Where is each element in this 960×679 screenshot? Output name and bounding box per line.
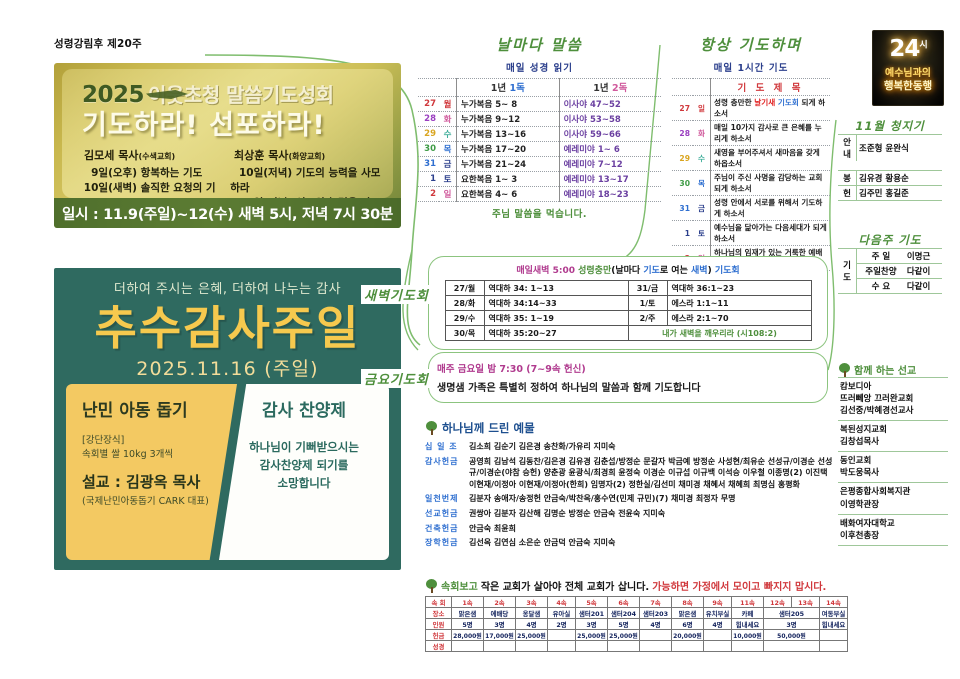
prayer-topic: 성령 충만한 날기새 기도회 되게 하소서 xyxy=(711,96,831,121)
poster1-speakers: 김모세 목사(수색교회) 최상훈 목사(화양교회) xyxy=(84,147,381,163)
next-week-prayer-section: 다음주 기도 기 도 주 일 이명근 주일찬양 다같이 수 요 다같이 xyxy=(838,232,942,294)
prayer-topic: 성령 안에서 서로를 위해서 기도하게 하소서 xyxy=(711,196,831,221)
bulletin-page: 성령강림후 제20주 2025이웃초청 말씀기도성회 기도하라! 선포하라! 김… xyxy=(0,0,960,679)
offering-section: 하나님께 드린 예물 십 일 조 김소희 김순기 김은경 송찬화/가유리 지미숙… xyxy=(425,420,833,552)
poster2-right-panel: 감사 찬양제 하나님이 기뻐받으시는 감사찬양제 되기를 소망합니다 xyxy=(219,384,389,560)
speaker-1: 김모세 목사(수색교회) xyxy=(84,147,234,163)
mission-partner: 캄보디아 뜨러뻬앙 끄러완교회 김선중/박혜경선교사 xyxy=(838,377,948,420)
friday-prayer-box: 금요기도회 매주 금요일 밤 7:30 (7~9속 헌신) 생명샘 가족은 특별… xyxy=(428,352,828,403)
friday-prayer-section: 금요기도회 매주 금요일 밤 7:30 (7~9속 헌신) 생명샘 가족은 특별… xyxy=(428,352,828,403)
cell-report-motto: 작은 교회가 살아야 전체 교회가 삽니다. xyxy=(481,578,649,593)
poster2-title: 추수감사주일 xyxy=(54,292,401,358)
daily-prayer-section: 항상 기도하며 매일 1시간 기도 기 도 제 목 27일 성령 충만한 날기새… xyxy=(672,34,830,289)
next-week-when: 수 요 xyxy=(857,279,905,294)
table-row: 28화매일 10가지 감사로 큰 은혜를 누리게 하소서 xyxy=(672,121,830,146)
dawn-verse-note: 내가 새벽을 깨우리라 (시108:2) xyxy=(628,326,811,341)
next-week-title: 다음주 기도 xyxy=(838,232,942,248)
offering-row: 장학헌금 김선옥 김연심 소은순 안금덕 안금숙 지미숙 xyxy=(425,537,833,549)
table-row: 27일 성령 충만한 날기새 기도회 되게 하소서 xyxy=(672,96,830,121)
dawn-prayer-section: 새벽기도회 매일새벽 5:00 성령충만(날마다 기도로 여는 새벽) 기도회 … xyxy=(428,256,828,350)
mission-partner: 복된성지교회 김창섭목사 xyxy=(838,420,948,451)
note-line-1: [강단장식] xyxy=(82,434,237,448)
mission-partners-section: 함께 하는 선교 캄보디아 뜨러뻬앙 끄러완교회 김선중/박혜경선교사 복된성지… xyxy=(838,362,948,546)
refugee-aid-notes: [강단장식] 속회별 쌀 10kg 3개씩 xyxy=(82,434,237,463)
logo-line-1: 예수님과의 xyxy=(873,64,943,79)
offering-names: 권쌍아 김분자 김산해 김명순 방정순 안금숙 전윤숙 지미숙 xyxy=(469,508,665,520)
offering-row: 건축헌금 안금숙 최윤희 xyxy=(425,523,833,535)
bible-script-title: 날마다 말씀 xyxy=(418,34,661,55)
prayer-topics-table: 기 도 제 목 27일 성령 충만한 날기새 기도회 되게 하소서 28화매일 … xyxy=(672,78,830,271)
next-week-who: 다같이 xyxy=(905,264,942,279)
table-row: 28화누가복음 9~12이사야 53~58 xyxy=(418,112,661,127)
offering-names: 공영희 김남석 김동찬/김은경 김유경 김춘섭/방정순 문갈자 박금예 방정순 … xyxy=(469,456,833,491)
table-row: 27월누가복음 5~ 8이사야 47~52 xyxy=(418,97,661,112)
table-header-row: 기 도 제 목 xyxy=(672,79,830,96)
stewards-table-2: 봉 김유경 황용순 헌 김주민 홍길준 xyxy=(838,170,942,201)
offering-row: 십 일 조 김소희 김순기 김은경 송찬화/가유리 지미숙 xyxy=(425,441,833,453)
cell-report-call: 가능하면 가정에서 모이고 빠지지 맙시다. xyxy=(652,578,826,593)
dawn-prayer-label: 새벽기도회 xyxy=(361,285,432,304)
offering-names: 김분자 송애자/송정헌 안금숙/박찬옥/홍수연(민제 규민)(7) 채미경 최정… xyxy=(469,493,735,505)
bible-subhead: 매일 성경 읽기 xyxy=(418,60,661,74)
table-header-row: 1년 1독 1년 2독 xyxy=(418,79,661,97)
table-row: 장소 맑은샘 에배당 옹달샘 유아실 샘터201 샘터204 샘터203 맑은샘… xyxy=(426,608,848,619)
offering-row: 선교헌금 권쌍아 김분자 김산해 김명순 방정순 안금숙 전윤숙 지미숙 xyxy=(425,508,833,520)
prayer-topic: 예수님을 닮아가는 다음세대가 되게 하소서 xyxy=(711,221,831,246)
prayer-col-header: 기 도 제 목 xyxy=(711,79,831,96)
table-row: 성경 xyxy=(426,641,848,652)
speaker-1-church: (수색교회) xyxy=(138,152,175,161)
table-row: 28/화역대하 34:14~331/토에스라 1:1~11 xyxy=(445,296,811,311)
schedule-day: 10일(저녁) xyxy=(230,166,292,181)
praise-festival-heading: 감사 찬양제 xyxy=(229,396,379,421)
table-row: 31금성령 안에서 서로를 위해서 기도하게 하소서 xyxy=(672,196,830,221)
cell-group-report-section: 속회보고 작은 교회가 살아야 전체 교회가 삽니다. 가능하면 가정에서 모이… xyxy=(425,578,835,652)
logo-number: 24시 xyxy=(873,36,943,62)
steward-role-usher: 봉 xyxy=(838,171,857,186)
schedule-item: 9일(오후) 항복하는 기도 xyxy=(80,166,224,181)
next-week-who: 이명근 xyxy=(905,249,942,264)
offering-heading-row: 하나님께 드린 예물 xyxy=(425,420,833,436)
poster-thanksgiving-sunday: 더하여 주시는 은혜, 더하여 나누는 감사 추수감사주일 2025.11.16… xyxy=(54,268,401,570)
bible-reading-table: 1년 1독 1년 2독 27월누가복음 5~ 8이사야 47~52 28화누가복… xyxy=(418,78,661,202)
dawn-reading-table: 27/월역대하 34: 1~1331/금역대하 36:1~23 28/화역대하 … xyxy=(445,280,812,341)
table-row: 속 회 1속 2속 3속 4속 5속 6속 7속 8속 9속 11속 12속 1… xyxy=(426,597,848,608)
offering-row: 감사헌금 공영희 김남석 김동찬/김은경 김유경 김춘섭/방정순 문갈자 박금예… xyxy=(425,456,833,491)
logo-24-happy-walk: 24시 예수님과의 행복한동행 xyxy=(872,30,944,106)
wish-line-1: 하나님이 기뻐받으시는 xyxy=(229,439,379,457)
speaker-2: 최상훈 목사(화양교회) xyxy=(234,147,325,163)
next-week-who: 다같이 xyxy=(905,279,942,294)
steward-names-offering: 김주민 홍길준 xyxy=(857,186,943,201)
friday-prayer-label: 금요기도회 xyxy=(361,369,432,388)
table-row: 30목누가복음 17~20예레미야 1~ 6 xyxy=(418,142,661,157)
prayer-script-title: 항상 기도하며 xyxy=(672,34,830,55)
mission-heading: 함께 하는 선교 xyxy=(854,362,916,377)
steward-names-usher: 김유경 황용순 xyxy=(857,171,943,186)
mission-partner: 은평종합사회복지관 이영학관장 xyxy=(838,482,948,513)
cell-group-table: 속 회 1속 2속 3속 4속 5속 6속 7속 8속 9속 11속 12속 1… xyxy=(425,596,848,652)
offering-label: 일천번제 xyxy=(425,493,469,505)
offering-names: 김소희 김순기 김은경 송찬화/가유리 지미숙 xyxy=(469,441,616,453)
offering-rows: 십 일 조 김소희 김순기 김은경 송찬화/가유리 지미숙 감사헌금 공영희 김… xyxy=(425,441,833,549)
prayer-topic: 주님이 주신 사명을 감당하는 교회되게 하소서 xyxy=(711,171,831,196)
steward-names-guide: 조준형 윤완식 xyxy=(857,135,943,162)
wish-line-2: 감사찬양제 되기를 xyxy=(229,457,379,475)
table-row: 29/수역대하 35: 1~192/주에스라 2:1~70 xyxy=(445,311,811,326)
col2-header: 1년 2독 xyxy=(559,79,661,97)
prayer-topic: 새영을 부어주셔서 새마음을 갖게 하옵소서 xyxy=(711,146,831,171)
stewards-table: 안 내 조준형 윤완식 xyxy=(838,134,942,161)
schedule-item: 10일(저녁) 기도의 능력을 사모하라 xyxy=(230,166,383,196)
dawn-prayer-box: 새벽기도회 매일새벽 5:00 성령충만(날마다 기도로 여는 새벽) 기도회 … xyxy=(428,256,828,350)
schedule-day: 10일(새벽) xyxy=(80,181,137,196)
offering-label: 장학헌금 xyxy=(425,537,469,549)
tree-icon xyxy=(838,363,851,377)
refugee-aid-heading: 난민 아동 돕기 xyxy=(82,396,237,421)
poster-revival-meeting: 2025이웃초청 말씀기도성회 기도하라! 선포하라! 김모세 목사(수색교회)… xyxy=(54,63,401,228)
table-row: 인원 5명 3명 4명 2명 3명 5명 4명 6명 4명 힘내세요 3명 힘내… xyxy=(426,619,848,630)
poster1-inner: 2025이웃초청 말씀기도성회 기도하라! 선포하라! 김모세 목사(수색교회)… xyxy=(62,69,393,198)
table-row: 기 도 주 일 이명근 xyxy=(838,249,942,264)
table-row: 2일요한복음 4~ 6예레미야 18~23 xyxy=(418,187,661,202)
table-row: 29수새영을 부어주셔서 새마음을 갖게 하옵소서 xyxy=(672,146,830,171)
sermon-preacher-org: (국제난민아동돕기 CARK 대표) xyxy=(82,493,237,507)
speaker-2-church: (화양교회) xyxy=(288,152,325,161)
table-row: 30/목역대하 35:20~27내가 새벽을 깨우리라 (시108:2) xyxy=(445,326,811,341)
table-row: 30목주님이 주신 사명을 감당하는 교회되게 하소서 xyxy=(672,171,830,196)
logo-line-2: 행복한동행 xyxy=(873,78,943,93)
table-row: 헌 김주민 홍길준 xyxy=(838,186,942,201)
mission-partner: 배화여자대학교 이후천총장 xyxy=(838,514,948,546)
table-row: 1토예수님을 닮아가는 다음세대가 되게 하소서 xyxy=(672,221,830,246)
monthly-stewards-section: 11월 청지기 안 내 조준형 윤완식 봉 김유경 황용순 헌 김주민 홍길준 xyxy=(838,118,942,201)
poster2-date: 2025.11.16 (주일) xyxy=(54,354,401,381)
offering-label: 건축헌금 xyxy=(425,523,469,535)
offering-row: 일천번제 김분자 송애자/송정헌 안금숙/박찬옥/홍수연(민제 규민)(7) 채… xyxy=(425,493,833,505)
tree-icon xyxy=(425,421,438,435)
next-week-when: 주 일 xyxy=(857,249,905,264)
prayer-subhead: 매일 1시간 기도 xyxy=(672,60,830,74)
tree-icon xyxy=(425,579,438,593)
bible-footer: 주님 말씀을 먹습니다. xyxy=(418,206,661,220)
next-week-when: 주일찬양 xyxy=(857,264,905,279)
col1-header: 1년 1독 xyxy=(457,79,560,97)
cell-report-heading: 속회보고 xyxy=(441,578,478,593)
poster2-left-panel: 난민 아동 돕기 [강단장식] 속회별 쌀 10kg 3개씩 설교 : 김광옥 … xyxy=(66,384,237,560)
cell-report-heading-row: 속회보고 작은 교회가 살아야 전체 교회가 삽니다. 가능하면 가정에서 모이… xyxy=(425,578,835,593)
next-week-role-label: 기 도 xyxy=(838,249,857,294)
speaker-2-name: 최상훈 목사 xyxy=(234,149,288,162)
table-row: 봉 김유경 황용순 xyxy=(838,171,942,186)
poster1-slogan: 기도하라! 선포하라! xyxy=(82,103,383,142)
offering-names: 김선옥 김연심 소은순 안금덕 안금숙 지미숙 xyxy=(469,537,615,549)
offering-heading: 하나님께 드린 예물 xyxy=(442,420,535,436)
poster1-datetime-band: 일시 : 11.9(주일)~12(수) 새벽 5시, 저녁 7시 30분 xyxy=(54,198,401,228)
schedule-topic: 항복하는 기도 xyxy=(141,167,203,179)
mission-heading-row: 함께 하는 선교 xyxy=(838,362,948,377)
sermon-preacher: 설교 : 김광옥 목사 xyxy=(82,471,237,492)
dawn-prayer-heading: 매일새벽 5:00 성령충만(날마다 기도로 여는 새벽) 기도회 xyxy=(437,263,819,276)
schedule-day: 9일(오후) xyxy=(80,166,137,181)
next-week-table: 기 도 주 일 이명근 주일찬양 다같이 수 요 다같이 xyxy=(838,248,942,294)
offering-names: 안금숙 최윤희 xyxy=(469,523,516,535)
wish-line-3: 소망합니다 xyxy=(229,475,379,493)
note-line-2: 속회별 쌀 10kg 3개씩 xyxy=(82,448,237,462)
offering-label: 선교헌금 xyxy=(425,508,469,520)
speaker-1-name: 김모세 목사 xyxy=(84,149,138,162)
friday-time: 매주 금요일 밤 7:30 (7~9속 헌신) xyxy=(437,361,819,375)
prayer-topic: 매일 10가지 감사로 큰 은혜를 누리게 하소서 xyxy=(711,121,831,146)
friday-description: 생명샘 가족은 특별히 정하여 하나님의 말씀과 함께 기도합니다 xyxy=(437,379,819,394)
season-label: 성령강림후 제20주 xyxy=(54,36,142,51)
offering-label: 십 일 조 xyxy=(425,441,469,453)
steward-role-guide: 안 내 xyxy=(838,135,857,162)
table-row: 헌금 28,000원 17,000원 25,000원 25,000원 25,00… xyxy=(426,630,848,641)
table-row: 29수누가복음 13~16이사야 59~66 xyxy=(418,127,661,142)
steward-role-offering: 헌 xyxy=(838,186,857,201)
table-row: 1토요한복음 1~ 3예레미야 13~17 xyxy=(418,172,661,187)
table-row: 27/월역대하 34: 1~1331/금역대하 36:1~23 xyxy=(445,281,811,296)
stewards-title: 11월 청지기 xyxy=(838,118,942,134)
mission-partner: 동인교회 박도웅목사 xyxy=(838,451,948,482)
praise-festival-wish: 하나님이 기뻐받으시는 감사찬양제 되기를 소망합니다 xyxy=(229,439,379,492)
daily-bible-reading-section: 날마다 말씀 매일 성경 읽기 1년 1독 1년 2독 27월누가복음 5~ 8… xyxy=(418,34,661,220)
table-row: 31금누가복음 21~24예레미야 7~12 xyxy=(418,157,661,172)
poster2-panels: 난민 아동 돕기 [강단장식] 속회별 쌀 10kg 3개씩 설교 : 김광옥 … xyxy=(66,384,389,560)
offering-label: 감사헌금 xyxy=(425,456,469,491)
